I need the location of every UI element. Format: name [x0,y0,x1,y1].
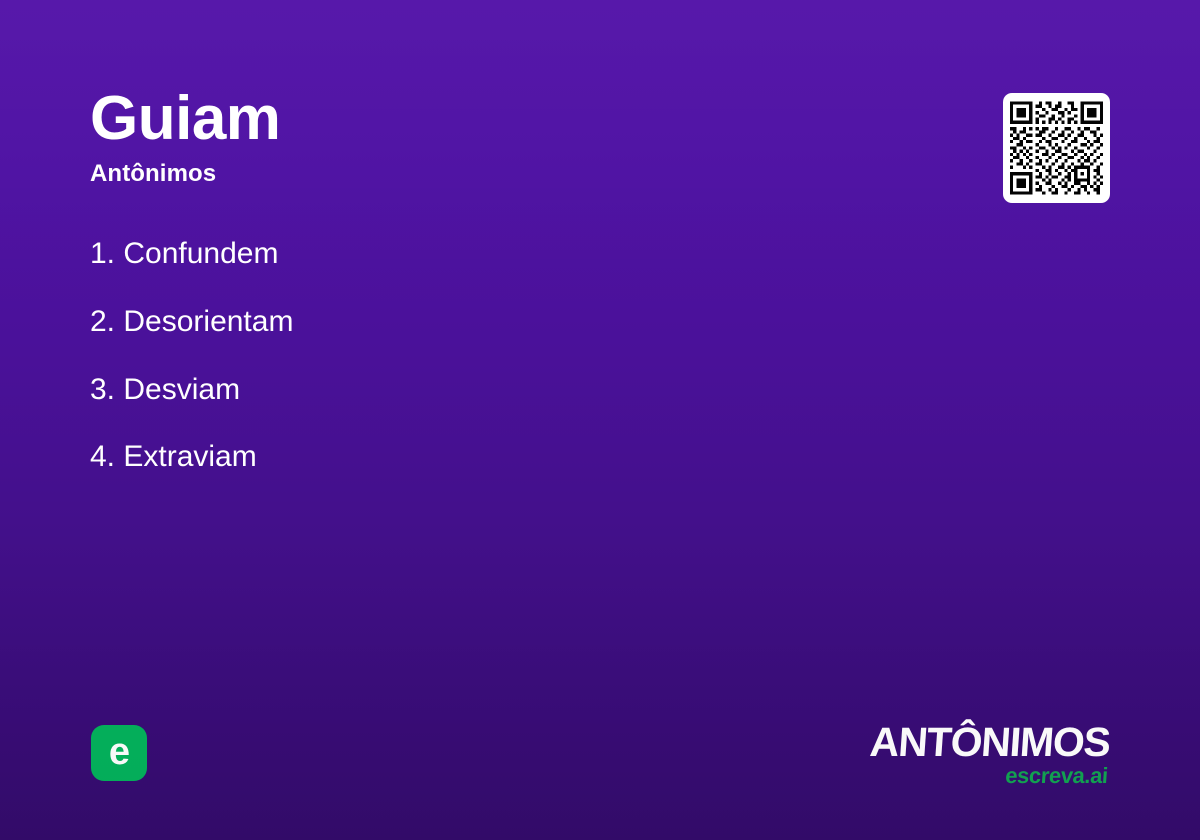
qr-code-icon[interactable] [1003,93,1110,203]
list-item-number: 3. [90,373,115,406]
brand-wordmark: ANTÔNIMOS escreva.ai [870,722,1110,787]
brand-badge-letter: e [109,733,129,771]
list-item-word: Extraviam [123,440,256,473]
antonyms-list: 1. Confundem 2. Desorientam 3. Desviam 4… [90,238,850,473]
page-title: Guiam [90,86,850,151]
list-item-number: 1. [90,237,115,270]
list-item-number: 4. [90,440,115,473]
wordmark-title: ANTÔNIMOS [869,722,1112,763]
list-item: 3. Desviam [90,374,850,406]
list-item: 1. Confundem [90,238,850,270]
escreva-logo-badge[interactable]: e [91,725,147,781]
list-item-word: Desorientam [123,305,293,338]
list-item: 4. Extraviam [90,441,850,473]
antonyms-card: Guiam Antônimos 1. Confundem 2. Desorien… [0,0,1200,840]
page-subtitle: Antônimos [90,160,850,189]
headline-block: Guiam Antônimos [90,86,850,189]
list-item: 2. Desorientam [90,306,850,338]
list-item-word: Desviam [123,373,240,406]
list-item-number: 2. [90,305,115,338]
list-item-word: Confundem [123,237,278,270]
wordmark-domain: escreva.ai [869,765,1108,787]
